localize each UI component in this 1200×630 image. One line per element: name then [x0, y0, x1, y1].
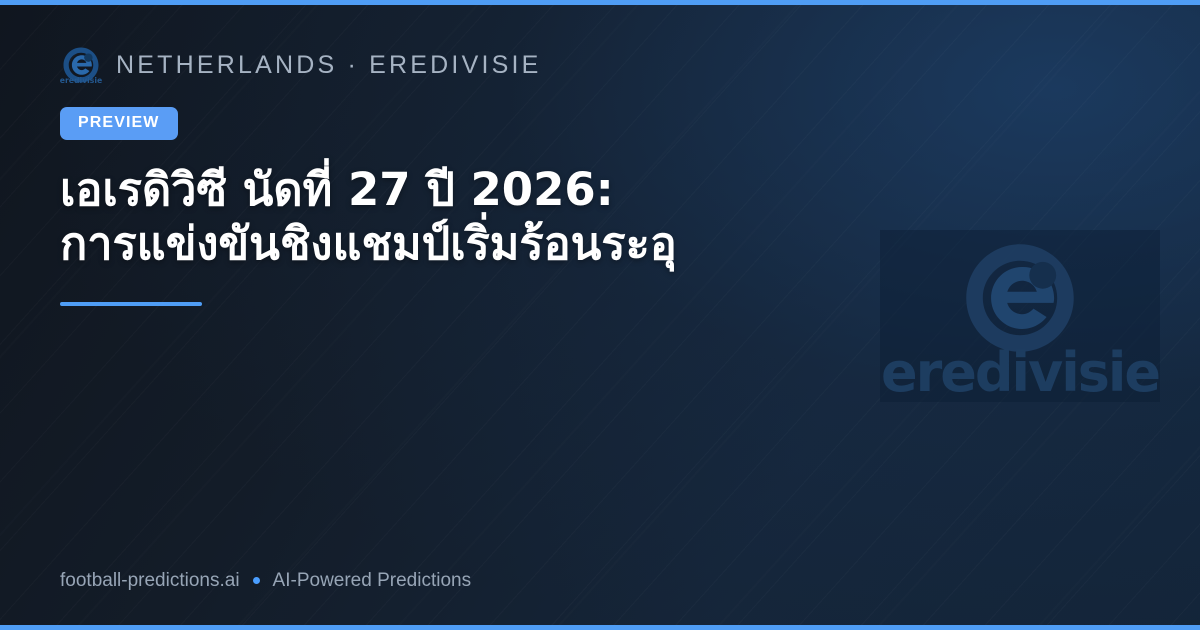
page-title: เอเรดิวิซี นัดที่ 27 ปี 2026: การแข่งขัน…: [60, 163, 850, 272]
league-header: eredivisie NETHERLANDS · EREDIVISIE: [60, 44, 1140, 86]
page-title-line-2: การแข่งขันชิงแชมป์เริ่มร้อนระอุ: [60, 217, 677, 270]
footer-tagline: AI-Powered Predictions: [273, 571, 472, 590]
eredivisie-logo-icon: eredivisie: [60, 44, 102, 86]
svg-text:eredivisie: eredivisie: [60, 76, 102, 85]
bottom-accent-bar: [0, 625, 1200, 630]
bullet-dot-icon: [253, 577, 260, 584]
footer-site-name: football-predictions.ai: [60, 571, 240, 590]
top-accent-bar: [0, 0, 1200, 5]
page-title-line-1: เอเรดิวิซี นัดที่ 27 ปี 2026:: [60, 163, 614, 216]
preview-card: eredivisie eredivisie NETHERLANDS · ERED…: [0, 0, 1200, 630]
layout-spacer: [60, 306, 1140, 571]
league-breadcrumb: NETHERLANDS · EREDIVISIE: [116, 51, 541, 80]
card-content: eredivisie NETHERLANDS · EREDIVISIE PREV…: [0, 0, 1200, 630]
status-badge: PREVIEW: [60, 107, 178, 140]
footer: football-predictions.ai AI-Powered Predi…: [60, 571, 1140, 590]
